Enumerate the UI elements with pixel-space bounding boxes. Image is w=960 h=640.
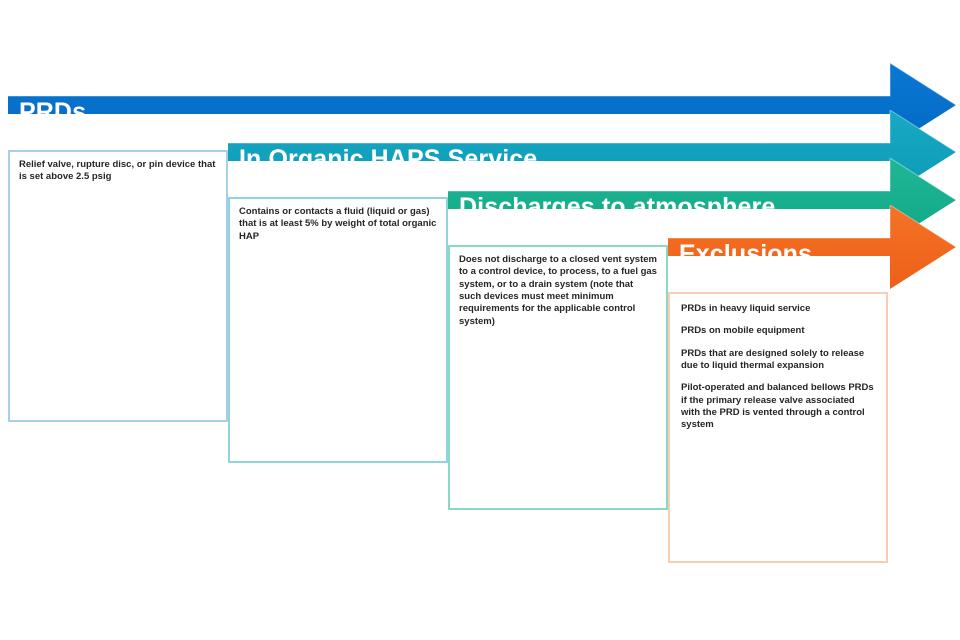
step-body-box-exclusions: PRDs in heavy liquid service PRDs on mob… (668, 292, 888, 563)
step-body-text-organic-haps-service: Contains or contacts a fluid (liquid or … (230, 199, 446, 243)
body-paragraph: Relief valve, rupture disc, or pin devic… (19, 159, 217, 184)
body-paragraph: PRDs that are designed solely to release… (681, 348, 875, 373)
step-header-label-prds: PRDs (19, 99, 86, 125)
body-paragraph: PRDs on mobile equipment (681, 325, 875, 337)
step-body-box-prds: Relief valve, rupture disc, or pin devic… (8, 150, 228, 422)
step-body-text-prds: Relief valve, rupture disc, or pin devic… (10, 152, 226, 184)
body-paragraph: Contains or contacts a fluid (liquid or … (239, 206, 437, 243)
step-body-text-exclusions: PRDs in heavy liquid service PRDs on mob… (670, 294, 886, 432)
body-paragraph: PRDs in heavy liquid service (681, 303, 875, 315)
step-body-text-discharges-to-atmosphere: Does not discharge to a closed vent syst… (450, 247, 666, 328)
step-body-box-organic-haps-service: Contains or contacts a fluid (liquid or … (228, 197, 448, 463)
step-header-arrow-exclusions[interactable]: Exclusions (668, 205, 956, 289)
step-header-label-exclusions: Exclusions (679, 241, 812, 267)
body-paragraph: Does not discharge to a closed vent syst… (459, 254, 657, 328)
step-body-box-discharges-to-atmosphere: Does not discharge to a closed vent syst… (448, 245, 668, 510)
body-paragraph: Pilot-operated and balanced bellows PRDs… (681, 382, 875, 431)
slide-canvas: Relief valve, rupture disc, or pin devic… (0, 0, 960, 640)
